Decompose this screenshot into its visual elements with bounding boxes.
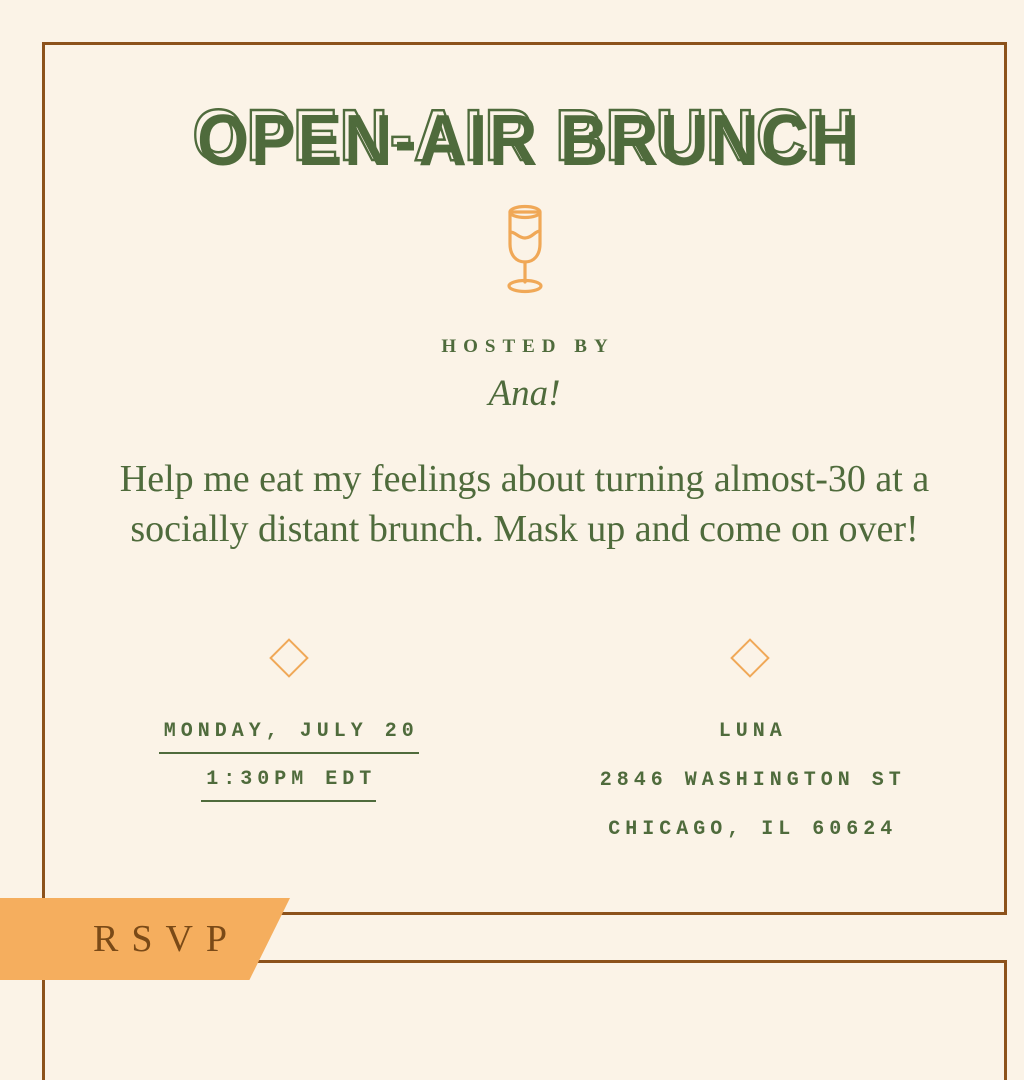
- venue-street: 2846 WASHINGTON ST: [595, 769, 906, 792]
- invitation-content: OPEN-AIR BRUNCH HOSTED BY Ana! Help me e…: [42, 42, 1007, 915]
- details-section: MONDAY, JULY 20 1:30PM EDT LUNA 2846 WAS…: [42, 644, 1007, 867]
- invitation-message: Help me eat my feelings about turning al…: [110, 454, 940, 554]
- location-column: LUNA 2846 WASHINGTON ST CHICAGO, IL 6062…: [520, 644, 982, 867]
- rsvp-banner[interactable]: RSVP: [0, 898, 290, 980]
- page-title: OPEN-AIR BRUNCH: [76, 100, 973, 172]
- invitation-card: OPEN-AIR BRUNCH HOSTED BY Ana! Help me e…: [0, 0, 1024, 1024]
- venue-city-state-zip: CHICAGO, IL 60624: [603, 818, 897, 841]
- rsvp-label: RSVP: [80, 917, 240, 961]
- venue-name: LUNA: [714, 720, 787, 743]
- diamond-icon: [269, 638, 309, 678]
- host-name: Ana!: [42, 372, 1007, 415]
- hosted-by-label: HOSTED BY: [42, 336, 1007, 358]
- date-time-column: MONDAY, JULY 20 1:30PM EDT: [58, 644, 520, 867]
- wine-glass-icon: [42, 202, 1007, 294]
- diamond-icon: [730, 638, 770, 678]
- event-time: 1:30PM EDT: [201, 768, 376, 802]
- event-date: MONDAY, JULY 20: [159, 720, 419, 754]
